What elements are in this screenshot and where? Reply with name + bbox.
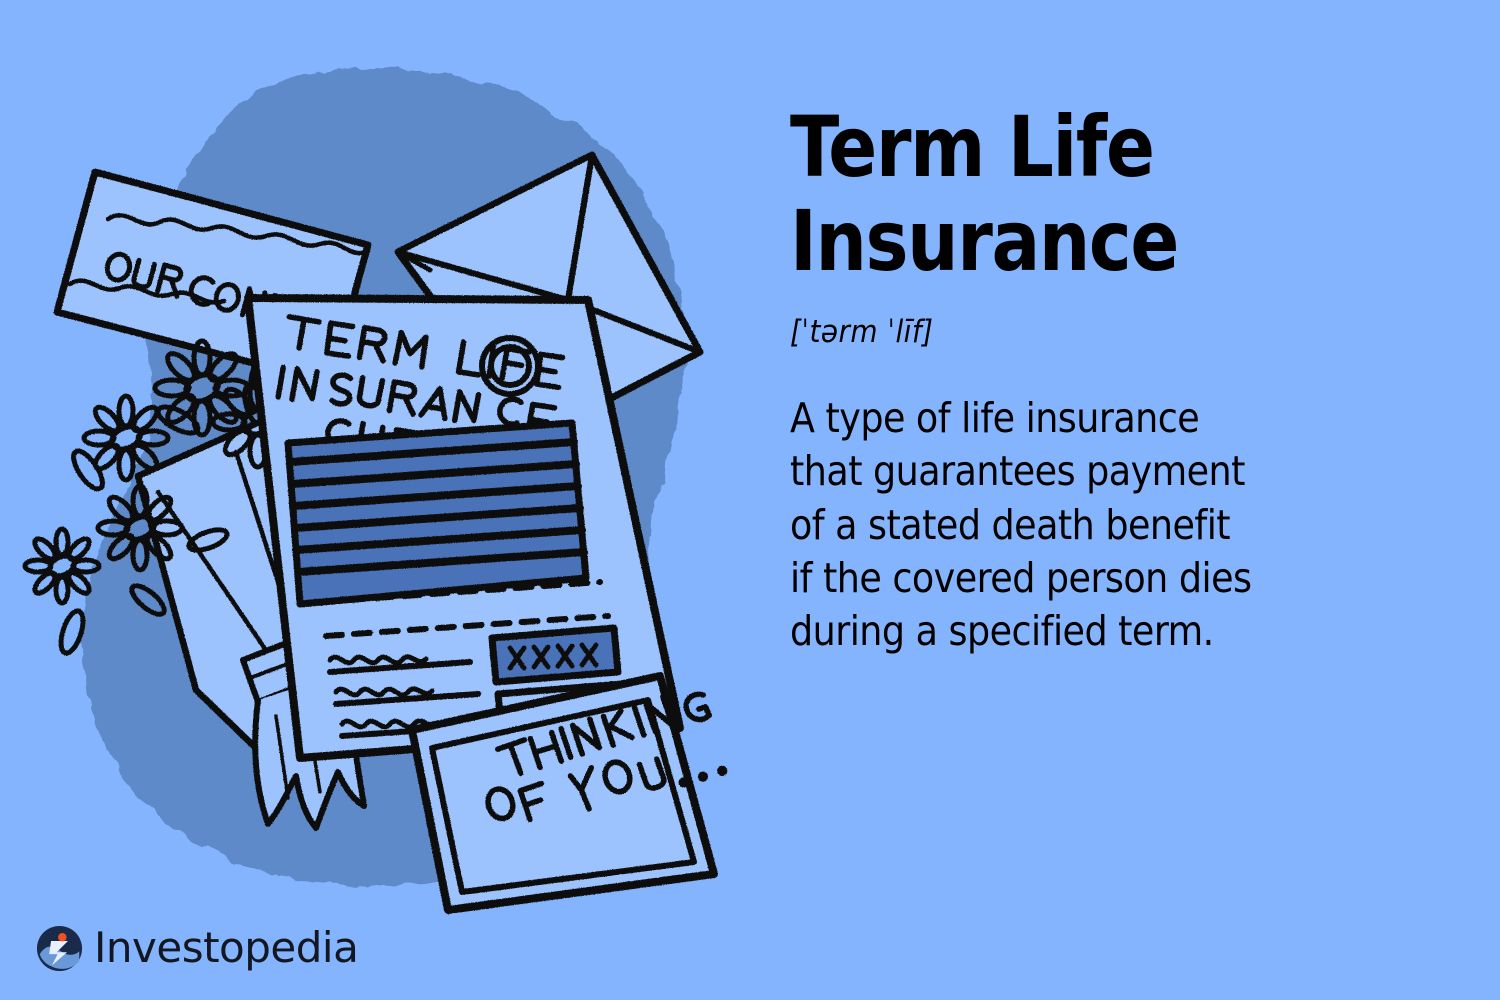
title-line-2: Insurance xyxy=(790,192,1178,290)
check-stripe-block xyxy=(288,423,586,604)
pronunciation: [ˈtərm ˈlīf] xyxy=(790,314,1384,350)
page-title: Term Life Insurance xyxy=(790,100,1452,288)
definition-card: Investopedia Term Life Insurance [ˈtərm … xyxy=(0,0,1500,1000)
investopedia-logo[interactable]: Investopedia xyxy=(36,918,358,978)
definition-line: A type of life insurance xyxy=(790,394,1199,442)
definition-body: A type of life insurance that guarantees… xyxy=(790,392,1444,658)
definition-line: that guarantees payment xyxy=(790,447,1245,495)
investopedia-bolt-icon xyxy=(36,925,83,972)
title-line-1: Term Life xyxy=(790,98,1154,196)
investopedia-wordmark: Investopedia xyxy=(94,927,358,969)
definition-line: of a stated death benefit xyxy=(790,501,1230,549)
definition-line: during a specified term. xyxy=(790,607,1214,655)
definition-line: if the covered person dies xyxy=(790,554,1251,602)
definition-text-column: Term Life Insurance [ˈtərm ˈlīf] A type … xyxy=(790,100,1450,659)
illustration xyxy=(0,0,760,1000)
